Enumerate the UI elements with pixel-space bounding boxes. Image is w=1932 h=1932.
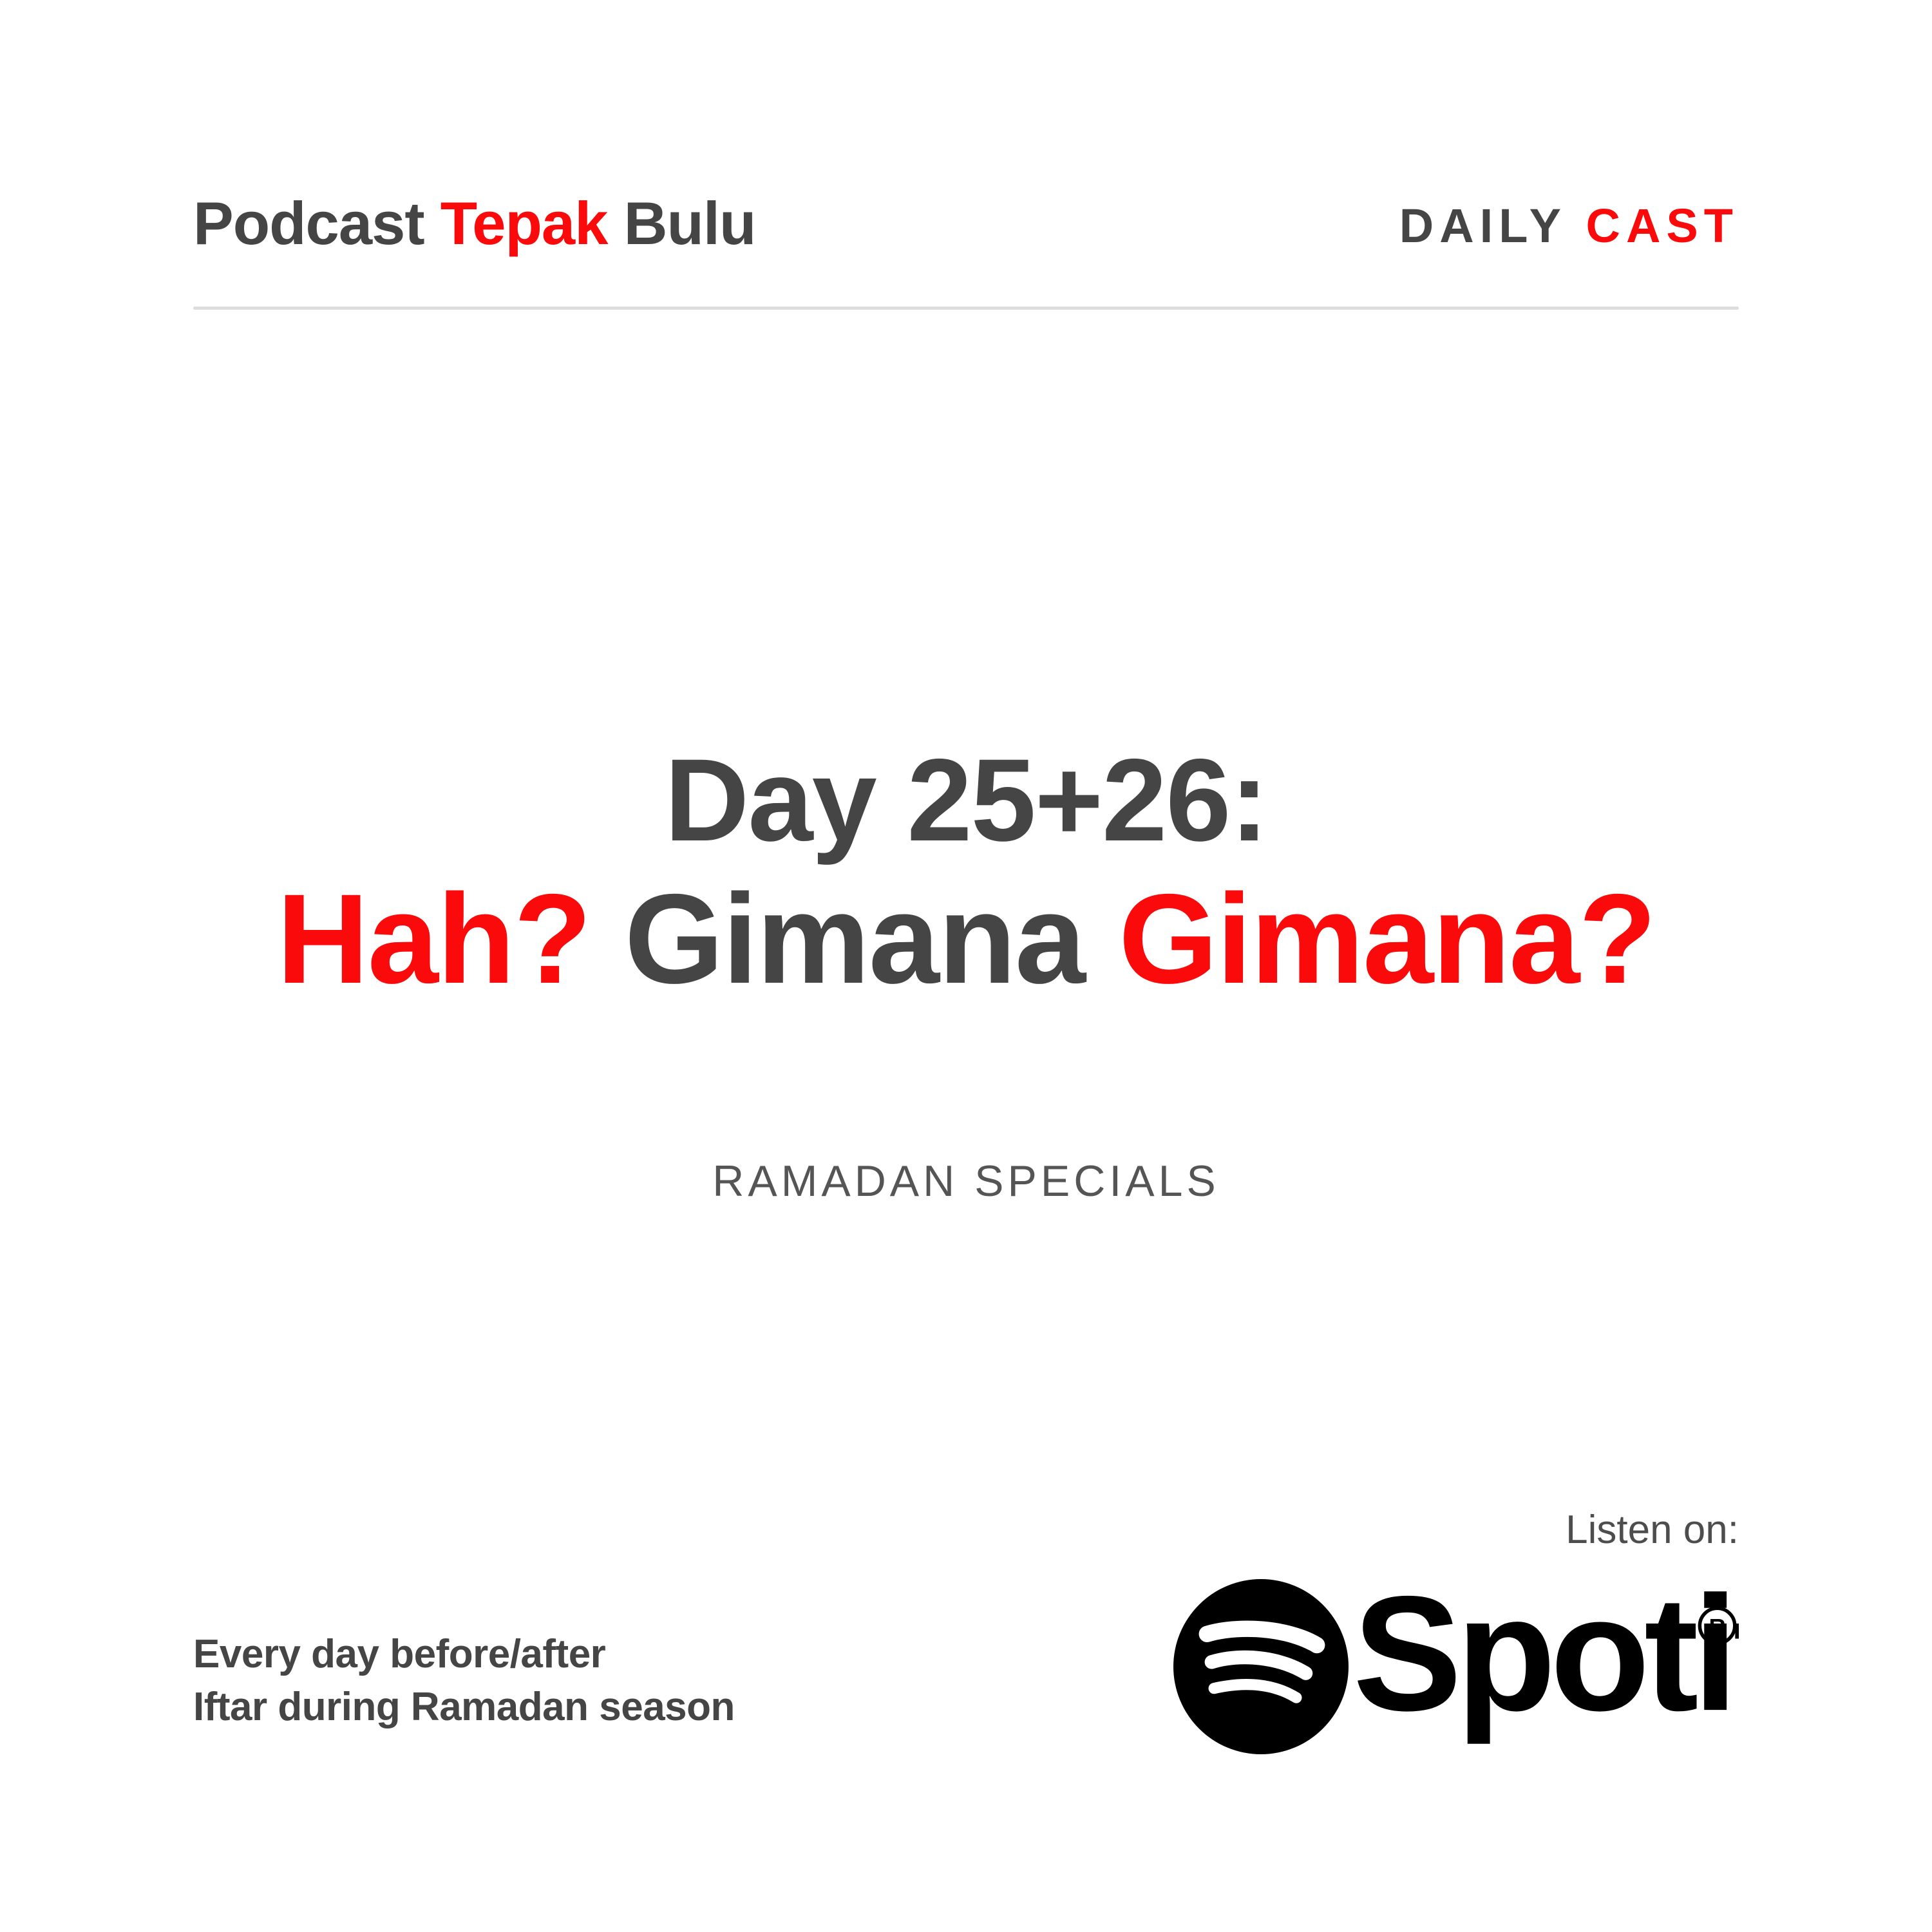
- series-label-part1: DAILY: [1399, 199, 1567, 252]
- episode-title-segment-2: Gimana: [625, 867, 1084, 1010]
- episode-title-segment-3: Gimana?: [1119, 867, 1655, 1010]
- spotify-icon[interactable]: [1173, 1579, 1349, 1754]
- spotify-wordmark[interactable]: Spotify R: [1352, 1579, 1739, 1754]
- schedule-note-line-2: Iftar during Ramadan season: [193, 1681, 735, 1734]
- brand-text-part1: Podcast: [193, 189, 440, 257]
- schedule-note: Every day before/after Iftar during Rama…: [193, 1628, 735, 1734]
- episode-title-block: Day 25+26: Hah? Gimana Gimana?: [0, 734, 1932, 1010]
- podcast-brand-title: Podcast Tepak Bulu: [193, 193, 755, 254]
- svg-text:R: R: [1709, 1614, 1725, 1640]
- series-label-accent: CAST: [1586, 199, 1739, 252]
- header-divider: [193, 307, 1739, 310]
- svg-text:Spotify: Spotify: [1353, 1579, 1739, 1745]
- brand-text-part2: Bulu: [608, 189, 756, 257]
- spotify-logo[interactable]: Spotify R: [1173, 1579, 1739, 1754]
- schedule-note-line-1: Every day before/after: [193, 1628, 735, 1681]
- episode-title-line-1: Day 25+26:: [0, 734, 1932, 867]
- episode-subtitle: RAMADAN SPECIALS: [0, 1156, 1932, 1206]
- episode-title-segment-1: Hah?: [277, 867, 591, 1010]
- listen-on-label: Listen on:: [1566, 1507, 1739, 1553]
- episode-title-line-2: Hah? Gimana Gimana?: [0, 867, 1932, 1011]
- series-label: DAILY CAST: [1399, 193, 1739, 250]
- header: Podcast Tepak Bulu DAILY CAST: [193, 193, 1739, 309]
- podcast-cover: Podcast Tepak Bulu DAILY CAST Day 25+26:…: [0, 0, 1932, 1932]
- brand-text-accent: Tepak: [440, 189, 608, 257]
